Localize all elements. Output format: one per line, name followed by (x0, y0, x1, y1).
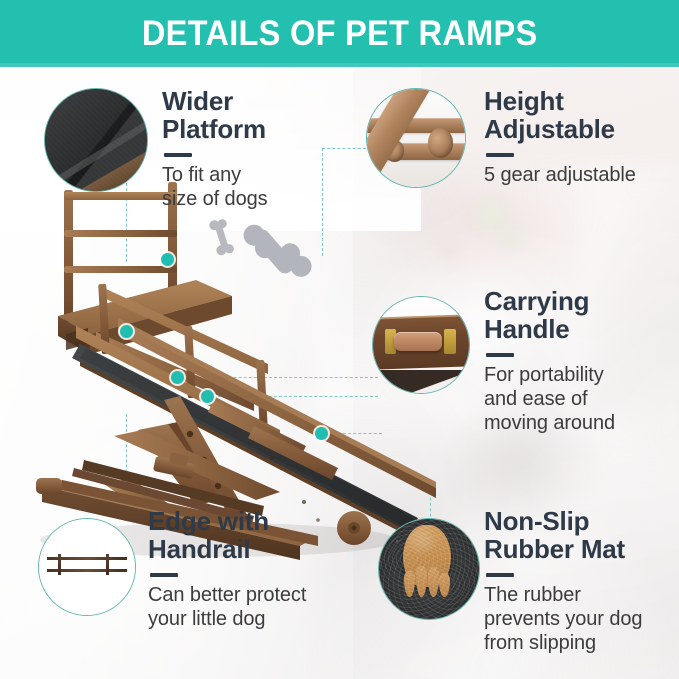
title-divider (150, 573, 178, 577)
marker-dot-handle-lower (201, 390, 214, 403)
bokeh-highlight-icon (440, 243, 458, 261)
feature-title-height-adjustable: Height Adjustable (484, 88, 679, 144)
feature-callout-carrying-handle: Carrying Handle For portability and ease… (484, 288, 679, 436)
title-divider (486, 573, 514, 577)
marker-dot-handle-upper (171, 371, 184, 384)
feature-description-height-adjustable: 5 gear adjustable (484, 163, 679, 187)
feature-description-carrying-handle: For portability and ease of moving aroun… (484, 363, 679, 436)
feature-callout-non-slip-mat: Non-Slip Rubber Mat The rubber prevents … (484, 508, 679, 656)
pet-ramp-infographic: DETAILS OF PET RAMPS (0, 0, 679, 679)
feature-title-non-slip-mat: Non-Slip Rubber Mat (484, 508, 679, 564)
bokeh-highlight-icon (474, 198, 508, 232)
feature-title-edge-handrail: Edge with Handrail (148, 508, 348, 564)
feature-description-non-slip-mat: The rubber prevents your dog from slippi… (484, 583, 679, 656)
feature-description-edge-handrail: Can better protect your little dog (148, 583, 348, 632)
feature-title-wider-platform: Wider Platform (162, 88, 332, 144)
feature-description-wider-platform: To fit any size of dogs (162, 163, 332, 212)
marker-dot-platform (120, 325, 133, 338)
inset-circle-height-adjustable (366, 88, 466, 188)
title-divider (486, 353, 514, 357)
feature-callout-edge-handrail: Edge with Handrail Can better protect yo… (148, 508, 348, 631)
title-divider (486, 153, 514, 157)
feature-callout-wider-platform: Wider Platform To fit any size of dogs (162, 88, 332, 211)
inset-circle-non-slip-mat (378, 518, 480, 620)
marker-dot-height (161, 253, 174, 266)
inset-circle-wider-platform (44, 88, 148, 192)
header-banner: DETAILS OF PET RAMPS (0, 0, 679, 67)
inset-circle-edge-handrail (38, 518, 136, 616)
marker-dot-mat (315, 427, 328, 440)
page-title: DETAILS OF PET RAMPS (142, 14, 538, 54)
feature-callout-height-adjustable: Height Adjustable 5 gear adjustable (484, 88, 679, 187)
inset-circle-carrying-handle (372, 296, 470, 394)
feature-title-carrying-handle: Carrying Handle (484, 288, 679, 344)
bokeh-highlight-icon (500, 228, 522, 250)
title-divider (164, 153, 192, 157)
